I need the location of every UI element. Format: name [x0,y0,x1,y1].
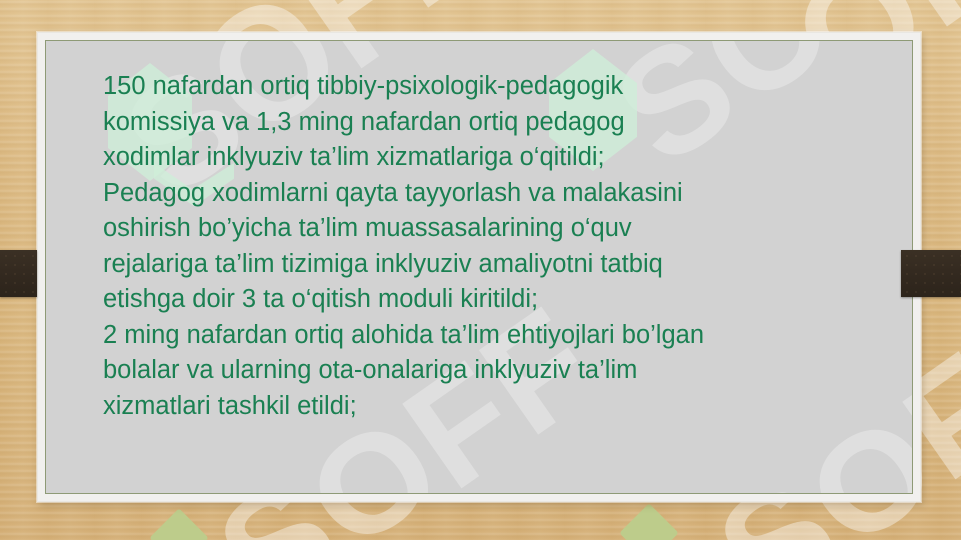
slide-body-text: 150 nafardan ortiq tibbiy-psixologik-ped… [103,69,883,424]
text-line-7: etishga doir 3 ta o‘qitish moduli kiriti… [103,282,883,318]
slide-frame: SOFF SOF SOFF SOFF 150 nafardan ortiq ti… [37,32,921,502]
text-line-9: bolalar va ularning ota-onalariga inklyu… [103,353,883,389]
text-line-1: 150 nafardan ortiq tibbiy-psixologik-ped… [103,69,883,105]
text-line-4: Pedagog xodimlarni qayta tayyorlash va m… [103,176,883,212]
slide-canvas: SOFF SOF SOFF SOFF 150 nafardan ortiq ti… [45,40,913,494]
text-line-6: rejalariga ta’lim tizimiga inklyuziv ama… [103,247,883,283]
text-line-8: 2 ming nafardan ortiq alohida ta’lim eht… [103,318,883,354]
slide-viewer: SOFF SOF SOFF SOFF SOFF SOF SOFF SOFF 15… [0,0,961,540]
text-line-10: xizmatlari tashkil etildi; [103,389,883,425]
text-line-5: oshirish bo’yicha ta’lim muassasalarinin… [103,211,883,247]
text-line-2: komissiya va 1,3 ming nafardan ortiq ped… [103,105,883,141]
text-line-3: xodimlar inklyuziv ta’lim xizmatlariga o… [103,140,883,176]
frame-clamp-right [901,250,961,297]
frame-clamp-left [0,250,37,297]
